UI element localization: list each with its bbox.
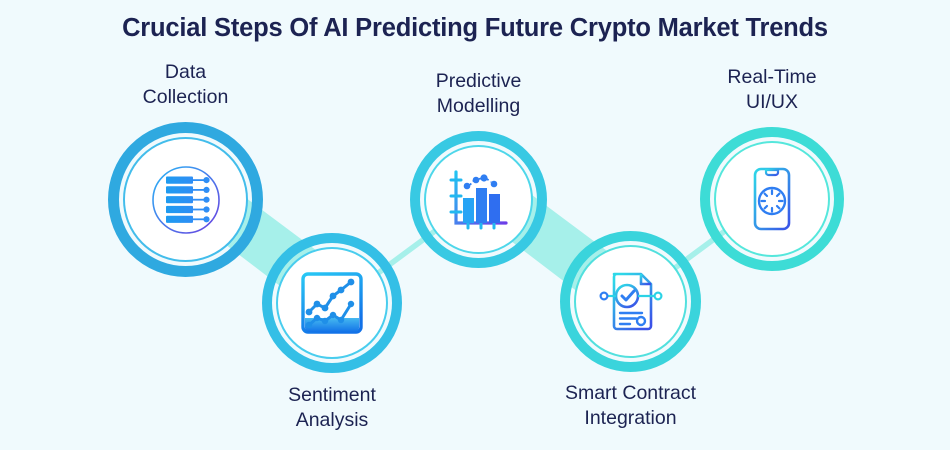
step-5-label-line2: UI/UX [652, 90, 892, 115]
infographic-canvas: Crucial Steps Of AI Predicting Future Cr… [0, 0, 950, 450]
step-3-icon-wrap [437, 158, 520, 241]
step-5-label-line1: Real-Time [652, 65, 892, 90]
step-1-label-line1: Data [66, 60, 306, 85]
step-node-3[interactable]: Predictive Modelling [410, 131, 547, 268]
step-node-4[interactable]: Smart Contract Integration [560, 231, 701, 372]
step-4-icon-wrap [588, 259, 673, 344]
step-1-icon-wrap [138, 152, 233, 247]
step-4-label: Smart Contract Integration [511, 381, 751, 431]
step-node-2[interactable]: Sentiment Analysis [262, 233, 402, 373]
line-chart-icon [297, 268, 367, 338]
step-2-label: Sentiment Analysis [212, 383, 452, 433]
step-1-label-line2: Collection [66, 85, 306, 110]
step-3-label-line1: Predictive [359, 69, 599, 94]
step-5-icon-wrap [728, 155, 816, 243]
step-node-5[interactable]: Real-Time UI/UX [700, 127, 844, 271]
step-2-icon-wrap [290, 261, 374, 345]
step-2-label-line1: Sentiment [212, 383, 452, 408]
data-collection-icon [144, 158, 228, 242]
smart-contract-document-icon [596, 267, 666, 337]
bar-chart-forecast-icon [445, 166, 513, 234]
step-2-label-line2: Analysis [212, 408, 452, 433]
step-4-label-line1: Smart Contract [511, 381, 751, 406]
mobile-realtime-clock-icon [737, 164, 807, 234]
step-3-label: Predictive Modelling [359, 69, 599, 119]
step-5-label: Real-Time UI/UX [652, 65, 892, 115]
step-3-label-line2: Modelling [359, 94, 599, 119]
step-1-label: Data Collection [66, 60, 306, 110]
step-4-label-line2: Integration [511, 406, 751, 431]
step-node-1[interactable]: Data Collection [108, 122, 263, 277]
